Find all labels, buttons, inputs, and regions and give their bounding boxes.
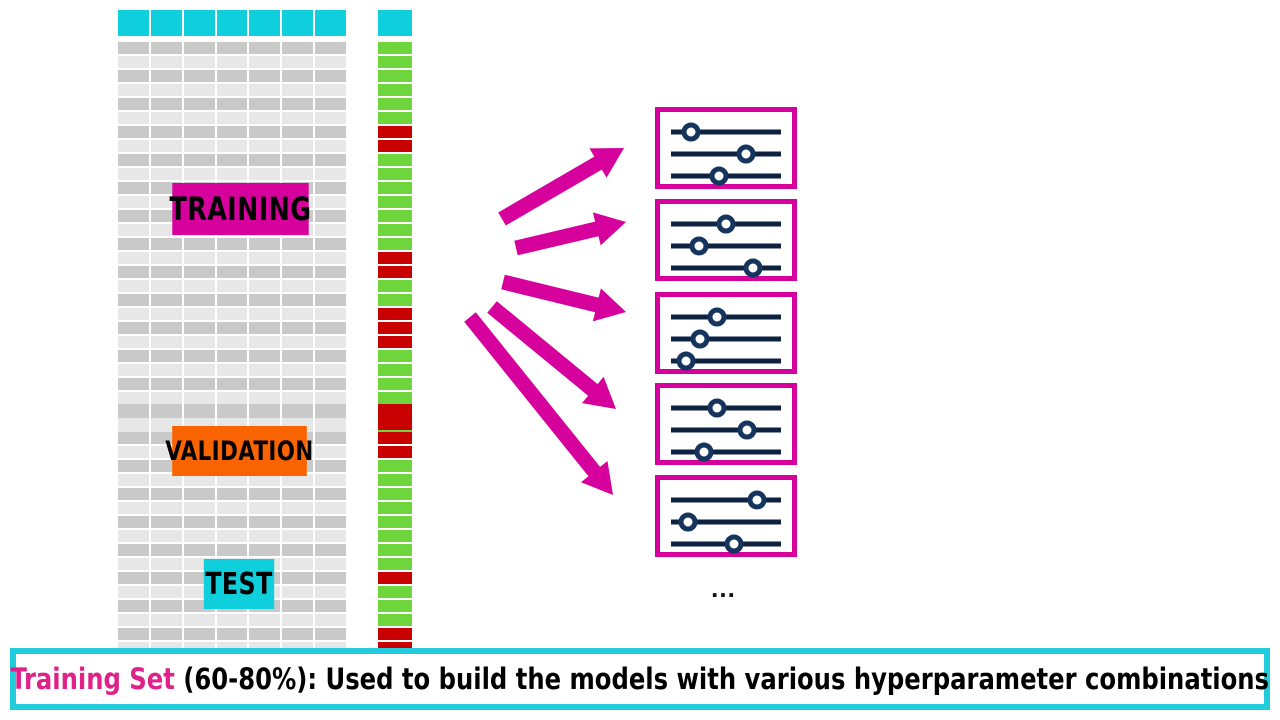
table-cell [315,126,346,138]
table-cell [151,586,182,598]
table-cell [217,404,248,416]
table-cell [151,168,182,180]
table-cell [118,238,149,250]
table-cell [282,84,313,96]
table-cell [282,98,313,110]
table-cell [118,516,149,528]
target-cell-green [378,516,412,528]
table-cell [151,502,182,514]
table-cell [315,224,346,236]
slider-track[interactable] [671,152,782,157]
table-row [118,364,346,376]
table-cell [217,530,248,542]
table-cell [217,308,248,320]
table-cell [184,336,215,348]
table-cell [118,378,149,390]
slider-track[interactable] [671,266,782,271]
table-cell [118,308,149,320]
table-cell [151,42,182,54]
table-cell [249,378,280,390]
table-header-cell [282,10,313,36]
table-cell [282,572,313,584]
target-cell-green [378,586,412,598]
table-cell [184,140,215,152]
table-cell [217,84,248,96]
slider-knob[interactable] [736,145,755,164]
table-cell [249,168,280,180]
table-cell [282,238,313,250]
table-row [118,42,346,54]
table-cell [282,516,313,528]
table-row [118,530,346,542]
model-2-slider-3[interactable] [660,256,792,280]
table-cell [184,628,215,640]
table-cell [184,350,215,362]
slider-knob[interactable] [743,259,762,278]
table-cell [282,544,313,556]
table-cell [118,460,149,472]
table-cell [249,280,280,292]
table-cell [315,154,346,166]
table-cell [151,572,182,584]
table-cell [151,308,182,320]
table-header-cell [184,10,215,36]
target-cell-green [378,70,412,82]
table-cell [315,140,346,152]
table-cell [184,544,215,556]
table-cell [249,392,280,404]
target-cell-green [378,56,412,68]
model-1-slider-1[interactable] [660,120,792,144]
table-cell [184,364,215,376]
table-cell [315,628,346,640]
target-cell-red [378,418,412,430]
table-cell [249,42,280,54]
table-cell [184,168,215,180]
table-cell [249,266,280,278]
split-label-test: TEST [204,559,274,609]
table-cell [315,70,346,82]
table-row [118,378,346,390]
arrow-to-model-2 [514,212,626,255]
table-row [118,168,346,180]
table-cell [217,322,248,334]
table-cell [118,280,149,292]
target-cell-red [378,322,412,334]
table-cell [151,112,182,124]
table-cell [249,70,280,82]
table-cell [249,530,280,542]
table-cell [151,544,182,556]
table-cell [282,126,313,138]
caption-accent-text: Training Set [11,662,175,696]
table-cell [151,238,182,250]
table-cell [151,252,182,264]
target-cell-green [378,196,412,208]
table-cell [282,364,313,376]
table-row [118,154,346,166]
table-cell [217,140,248,152]
table-cell [282,586,313,598]
target-cell-green [378,42,412,54]
table-cell [249,252,280,264]
table-cell [217,364,248,376]
caption-banner: Training Set (60-80%): Used to build the… [10,648,1270,710]
slider-knob[interactable] [710,167,729,186]
target-cell-red [378,446,412,458]
table-cell [217,350,248,362]
slider-track[interactable] [671,337,782,342]
table-row [118,98,346,110]
model-2-slider-1[interactable] [660,212,792,236]
target-cell-green [378,530,412,542]
target-cell-red [378,126,412,138]
slider-knob[interactable] [738,421,757,440]
table-cell [249,516,280,528]
table-row [118,238,346,250]
table-cell [151,488,182,500]
table-cell [151,378,182,390]
model-5-slider-1[interactable] [660,488,792,512]
target-cell-green [378,392,412,404]
table-cell [282,70,313,82]
table-row [118,70,346,82]
target-cell-red [378,404,412,416]
model-1-box[interactable] [655,107,797,189]
slider-knob[interactable] [690,237,709,256]
table-header-cell [151,10,182,36]
model-5-slider-2[interactable] [660,510,792,534]
table-cell [282,378,313,390]
table-cell [315,336,346,348]
table-cell [282,488,313,500]
slider-knob[interactable] [717,215,736,234]
model-1-slider-2[interactable] [660,142,792,166]
table-cell [249,364,280,376]
model-4-box[interactable] [655,383,797,465]
table-cell [217,238,248,250]
table-cell [315,308,346,320]
arrow-to-model-1 [498,148,624,226]
table-cell [315,280,346,292]
table-cell [282,154,313,166]
table-cell [184,42,215,54]
table-cell [184,98,215,110]
table-cell [217,614,248,626]
table-cell [118,98,149,110]
slider-knob[interactable] [677,352,696,371]
table-row [118,252,346,264]
table-cell [151,600,182,612]
target-cell-green [378,378,412,390]
table-cell [315,182,346,194]
split-label-training: TRAINING [172,183,308,235]
table-cell [249,350,280,362]
table-cell [217,488,248,500]
table-cell [118,42,149,54]
table-cell [249,614,280,626]
table-cell [282,294,313,306]
table-cell [282,140,313,152]
table-cell [249,502,280,514]
more-models-ellipsis: … [710,573,738,604]
target-cell-green [378,294,412,306]
target-cell-green [378,600,412,612]
table-cell [315,446,346,458]
target-cell-green [378,182,412,194]
model-4-slider-1[interactable] [660,396,792,420]
table-row [118,502,346,514]
table-cell [282,502,313,514]
table-cell [118,252,149,264]
table-cell [184,308,215,320]
table-cell [315,112,346,124]
table-cell [282,628,313,640]
table-cell [315,572,346,584]
table-row [118,112,346,124]
table-cell [315,168,346,180]
table-row [118,336,346,348]
table-cell [184,294,215,306]
table-cell [217,168,248,180]
slider-knob[interactable] [724,535,743,554]
table-cell [315,432,346,444]
table-cell [118,182,149,194]
model-3-box[interactable] [655,292,797,374]
table-cell [118,294,149,306]
table-cell [249,56,280,68]
table-cell [118,418,149,430]
table-cell [184,112,215,124]
target-cell-green [378,558,412,570]
table-row [118,350,346,362]
slide-canvas: TRAINING VALIDATION TEST … Training Set … [0,0,1280,720]
table-cell [184,238,215,250]
table-cell [315,614,346,626]
table-cell [217,544,248,556]
table-cell [249,154,280,166]
table-cell [217,336,248,348]
slider-track[interactable] [671,450,782,455]
table-cell [249,98,280,110]
table-row [118,266,346,278]
table-row [118,322,346,334]
table-cell [118,84,149,96]
table-cell [151,98,182,110]
model-3-slider-3[interactable] [660,349,792,373]
table-cell [315,350,346,362]
table-cell [282,252,313,264]
table-cell [184,378,215,390]
table-cell [249,336,280,348]
slider-knob[interactable] [681,123,700,142]
table-cell [282,280,313,292]
table-cell [282,392,313,404]
table-cell [118,432,149,444]
table-cell [118,210,149,222]
table-cell [315,252,346,264]
target-cell-green [378,84,412,96]
table-cell [151,336,182,348]
model-4-slider-3[interactable] [660,440,792,464]
table-cell [151,266,182,278]
table-cell [249,112,280,124]
target-cell-green [378,280,412,292]
table-cell [118,572,149,584]
table-cell [184,488,215,500]
table-row [118,294,346,306]
table-cell [315,210,346,222]
table-cell [184,392,215,404]
table-cell [118,364,149,376]
table-row [118,544,346,556]
table-row [118,280,346,292]
slider-track[interactable] [671,428,782,433]
table-cell [118,154,149,166]
table-row [118,488,346,500]
target-cell-green [378,210,412,222]
table-row [118,392,346,404]
table-cell [184,280,215,292]
slider-knob[interactable] [679,513,698,532]
table-cell [249,322,280,334]
table-cell [315,196,346,208]
table-cell [151,392,182,404]
table-cell [315,516,346,528]
table-cell [151,70,182,82]
target-cell-red [378,252,412,264]
table-cell [315,364,346,376]
table-cell [249,628,280,640]
table-cell [184,516,215,528]
table-cell [151,140,182,152]
table-cell [151,154,182,166]
target-strip-training [378,10,412,434]
table-cell [249,140,280,152]
table-cell [118,350,149,362]
table-cell [249,84,280,96]
model-4-slider-2[interactable] [660,418,792,442]
target-cell-green [378,474,412,486]
table-cell [151,350,182,362]
table-cell [217,294,248,306]
arrow-to-model-3 [501,275,626,322]
target-cell-red [378,628,412,640]
table-cell [282,600,313,612]
table-cell [118,56,149,68]
target-cell-green [378,224,412,236]
table-cell [151,126,182,138]
target-cell-red [378,432,412,444]
target-cell-green [378,544,412,556]
target-cell-red [378,308,412,320]
table-cell [151,614,182,626]
table-cell [315,418,346,430]
table-cell [151,404,182,416]
table-cell [184,404,215,416]
slider-knob[interactable] [691,330,710,349]
table-cell [315,98,346,110]
table-cell [249,544,280,556]
table-cell [118,140,149,152]
slider-track[interactable] [671,244,782,249]
table-cell [282,266,313,278]
table-header-cell [315,10,346,36]
table-cell [217,98,248,110]
model-3-slider-1[interactable] [660,305,792,329]
table-cell [249,488,280,500]
table-cell [184,266,215,278]
table-cell [118,112,149,124]
table-cell [118,168,149,180]
table-cell [151,294,182,306]
table-cell [118,322,149,334]
target-cell-red [378,572,412,584]
arrow-to-model-4 [487,301,616,409]
slider-knob[interactable] [694,443,713,462]
model-2-box[interactable] [655,199,797,281]
target-cell-green [378,154,412,166]
table-cell [282,56,313,68]
table-cell [282,614,313,626]
target-cell-green [378,614,412,626]
arrow-to-model-5 [464,312,613,495]
table-row [118,628,346,640]
table-cell [151,322,182,334]
table-cell [315,404,346,416]
model-1-slider-3[interactable] [660,164,792,188]
table-cell [282,558,313,570]
table-cell [315,474,346,486]
table-cell [151,558,182,570]
model-3-slider-2[interactable] [660,327,792,351]
target-cell-green [378,238,412,250]
table-cell [315,42,346,54]
slider-knob[interactable] [708,399,727,418]
table-cell [118,392,149,404]
model-5-slider-3[interactable] [660,532,792,556]
table-cell [184,252,215,264]
slider-knob[interactable] [708,308,727,327]
table-cell [118,628,149,640]
model-5-box[interactable] [655,475,797,557]
table-cell [118,126,149,138]
table-cell [282,530,313,542]
table-cell [184,530,215,542]
table-cell [118,336,149,348]
table-cell [282,168,313,180]
table-cell [217,56,248,68]
table-row [118,140,346,152]
table-cell [184,154,215,166]
table-cell [282,322,313,334]
table-header-cell [217,10,248,36]
model-2-slider-2[interactable] [660,234,792,258]
table-cell [217,42,248,54]
table-cell [282,112,313,124]
table-cell [118,404,149,416]
target-cell-red [378,266,412,278]
table-cell [217,628,248,640]
table-cell [249,238,280,250]
target-strip-validation [378,404,412,530]
table-cell [315,392,346,404]
table-cell [217,516,248,528]
table-cell [282,42,313,54]
table-cell [249,308,280,320]
slider-knob[interactable] [748,491,767,510]
target-cell-green [378,364,412,376]
